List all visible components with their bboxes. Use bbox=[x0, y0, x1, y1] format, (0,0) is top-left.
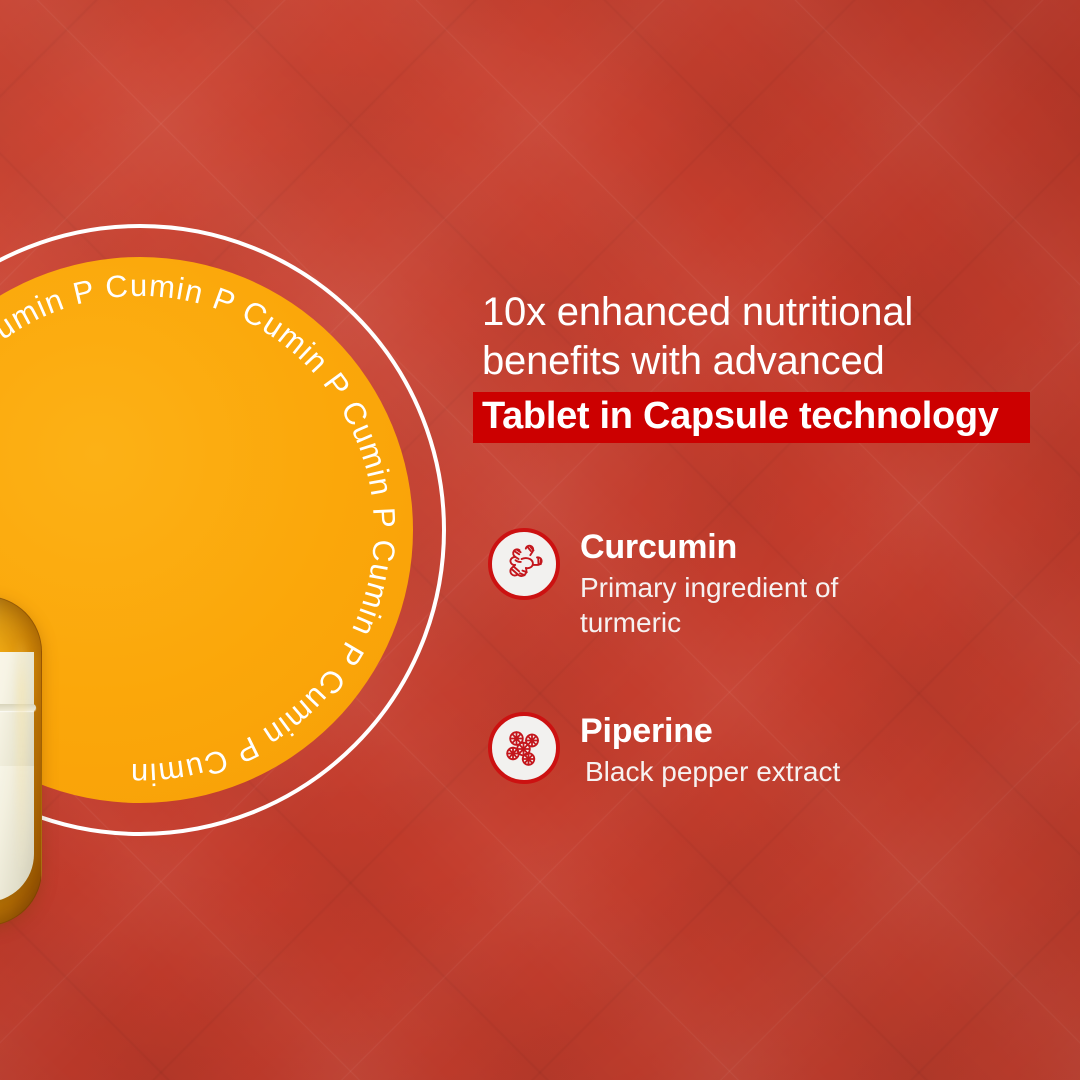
product-badge: P Cumin P Cumin P Cumin P Cumin P Cumin … bbox=[0, 224, 446, 836]
headline-line-1: 10x enhanced nutritional bbox=[473, 288, 1053, 337]
feature-text: Curcumin Primary ingredient of turmeric bbox=[488, 528, 1048, 640]
feature-text: Piperine Black pepper extract bbox=[488, 712, 1048, 789]
badge-circular-text: P Cumin P Cumin P Cumin P Cumin P Cumin … bbox=[0, 257, 413, 803]
headline-block: 10x enhanced nutritional benefits with a… bbox=[473, 288, 1053, 443]
peppercorns-icon bbox=[488, 712, 560, 784]
list-item: Piperine Black pepper extract bbox=[488, 712, 1048, 822]
ingredient-description: Primary ingredient of turmeric bbox=[580, 570, 910, 640]
ingredient-title: Curcumin bbox=[580, 528, 1048, 566]
headline-line-2: benefits with advanced bbox=[473, 337, 1053, 386]
capsule-gloss-right bbox=[16, 636, 27, 886]
capsule-product-image bbox=[0, 596, 42, 926]
promo-graphic: P Cumin P Cumin P Cumin P Cumin P Cumin … bbox=[0, 0, 1080, 1080]
headline-highlight-banner: Tablet in Capsule technology bbox=[473, 392, 1030, 443]
turmeric-root-icon bbox=[488, 528, 560, 600]
ingredient-list: Curcumin Primary ingredient of turmeric bbox=[488, 528, 1048, 822]
badge-ring-label: P Cumin P Cumin P Cumin P Cumin P Cumin … bbox=[0, 268, 402, 792]
list-item: Curcumin Primary ingredient of turmeric bbox=[488, 528, 1048, 640]
ingredient-description: Black pepper extract bbox=[580, 754, 940, 789]
ingredient-title: Piperine bbox=[580, 712, 1048, 750]
